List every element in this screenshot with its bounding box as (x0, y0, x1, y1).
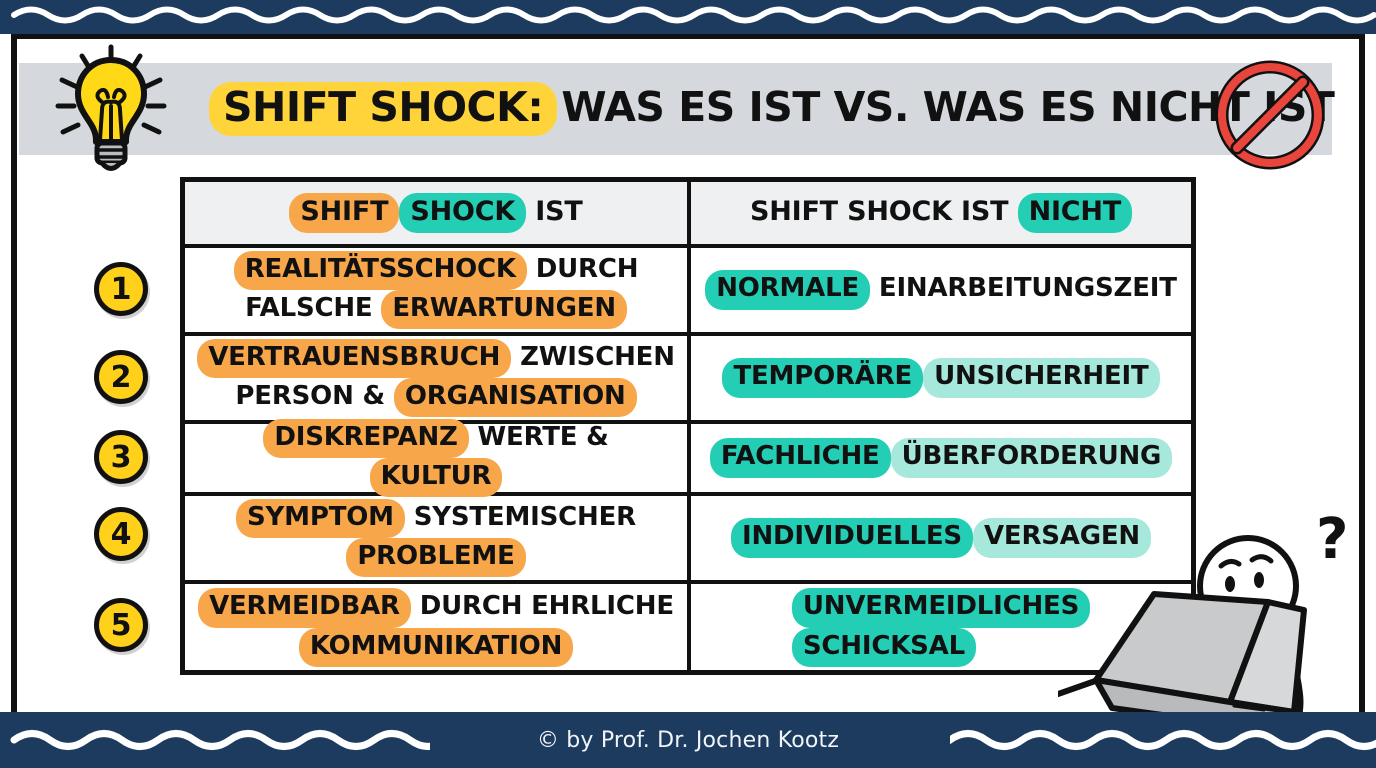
row-5-right-b: SCHICKSAL (792, 628, 976, 667)
row-1-left-d: ERWARTUNGEN (381, 290, 627, 329)
row-3-right-cell: FACHLICHEÜBERFORDERUNG (691, 424, 1191, 492)
row-5-right-a: UNVERMEIDLICHES (792, 588, 1090, 627)
table-row: VERMEIDBAR DURCH EHRLICHE KOMMUNIKATION … (185, 584, 1191, 671)
row-5-left-a: VERMEIDBAR (198, 588, 411, 627)
row-3-left-a: DISKREPANZ (263, 419, 468, 458)
row-1-left-cell: REALITÄTSSCHOCK DURCH FALSCHE ERWARTUNGE… (185, 248, 691, 332)
row-1-left-a: REALITÄTSSCHOCK (234, 251, 527, 290)
row-4-left-b: SYSTEMISCHER (414, 502, 636, 532)
header-right-word1: SHIFT SHOCK IST (750, 196, 1008, 227)
row-2-left-d: ORGANISATION (394, 378, 637, 417)
comparison-table: SHIFTSHOCK IST SHIFT SHOCK IST NICHT REA… (180, 177, 1196, 675)
header-cell-is: SHIFTSHOCK IST (185, 182, 691, 244)
header-left-word1: SHIFT (289, 193, 399, 234)
table-row: REALITÄTSSCHOCK DURCH FALSCHE ERWARTUNGE… (185, 248, 1191, 336)
row-2-left-b: ZWISCHEN (520, 342, 675, 372)
header-left-word2: SHOCK (399, 193, 526, 234)
prohibition-icon (1210, 55, 1330, 175)
row-1-right-cell: NORMALE EINARBEITUNGSZEIT (691, 248, 1191, 332)
row-2-left-c: PERSON & (235, 381, 385, 411)
table-header-row: SHIFTSHOCK IST SHIFT SHOCK IST NICHT (185, 182, 1191, 248)
row-4-left-a: SYMPTOM (236, 499, 405, 538)
table-row: DISKREPANZ WERTE & KULTUR FACHLICHEÜBERF… (185, 424, 1191, 496)
row-4-right-a: INDIVIDUELLES (731, 518, 973, 557)
row-1-right-a: NORMALE (705, 270, 870, 309)
row-5-left-cell: VERMEIDBAR DURCH EHRLICHE KOMMUNIKATION (185, 584, 691, 671)
top-wave-band (0, 0, 1376, 34)
frame-border-top (11, 34, 1365, 39)
infographic-canvas: SHIFT SHOCK:WAS ES IST VS. WAS ES NICHT … (0, 0, 1376, 768)
top-wave-line (0, 0, 1376, 34)
row-3-right-b: ÜBERFORDERUNG (891, 438, 1173, 477)
row-1-left-c: FALSCHE (245, 293, 372, 323)
table-row: SYMPTOM SYSTEMISCHER PROBLEME INDIVIDUEL… (185, 496, 1191, 584)
header-cell-is-not: SHIFT SHOCK IST NICHT (691, 182, 1191, 244)
row-4-left-d: PROBLEME (346, 538, 525, 577)
row-3-left-cell: DISKREPANZ WERTE & KULTUR (185, 424, 691, 492)
row-5-left-b: DURCH EHRLICHE (420, 591, 674, 621)
row-number-1: 1 (94, 262, 148, 316)
row-3-right-a: FACHLICHE (710, 438, 891, 477)
row-3-left-d: KULTUR (370, 458, 503, 497)
row-1-left-b: DURCH (536, 254, 639, 284)
row-5-left-d: KOMMUNIKATION (299, 628, 573, 667)
row-2-right-cell: TEMPORÄREUNSICHERHEIT (691, 336, 1191, 420)
title-highlight: SHIFT SHOCK: (209, 82, 557, 136)
header-right-word2: NICHT (1018, 193, 1132, 234)
frame-border-left (11, 34, 17, 714)
row-4-left-cell: SYMPTOM SYSTEMISCHER PROBLEME (185, 496, 691, 580)
footer-credit: © by Prof. Dr. Jochen Kootz (0, 712, 1376, 768)
row-number-2: 2 (94, 350, 148, 404)
thinking-person-laptop-icon: ? (1058, 498, 1376, 748)
row-2-right-a: TEMPORÄRE (722, 358, 923, 397)
question-mark-icon: ? (1316, 507, 1348, 572)
row-number-4: 4 (94, 507, 148, 561)
row-2-left-cell: VERTRAUENSBRUCH ZWISCHEN PERSON & ORGANI… (185, 336, 691, 420)
header-left-word3: IST (535, 196, 582, 227)
row-number-5: 5 (94, 598, 148, 652)
row-1-right-b: EINARBEITUNGSZEIT (879, 273, 1177, 303)
page-title: SHIFT SHOCK:WAS ES IST VS. WAS ES NICHT … (19, 63, 1332, 155)
row-2-right-b: UNSICHERHEIT (923, 358, 1159, 397)
table-row: VERTRAUENSBRUCH ZWISCHEN PERSON & ORGANI… (185, 336, 1191, 424)
row-2-left-a: VERTRAUENSBRUCH (197, 339, 511, 378)
row-number-3: 3 (94, 430, 148, 484)
row-3-left-b: WERTE & (478, 422, 609, 452)
